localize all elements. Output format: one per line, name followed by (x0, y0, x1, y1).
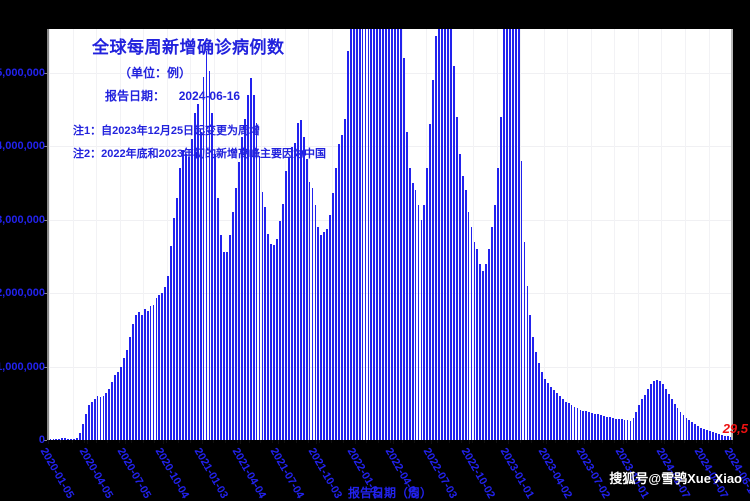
bar (462, 176, 464, 440)
bar (376, 29, 378, 440)
bar (503, 29, 505, 440)
bar (509, 29, 511, 440)
bar (653, 381, 655, 440)
bar (241, 137, 243, 440)
x-axis-minor-tick (649, 440, 650, 443)
bar (550, 387, 552, 440)
bar (512, 29, 514, 440)
bar (320, 235, 322, 441)
bar (135, 315, 137, 440)
x-axis-tick (469, 440, 470, 444)
bar (571, 405, 573, 440)
bar (450, 29, 452, 440)
x-axis-minor-tick (331, 440, 332, 443)
x-axis-minor-tick (390, 440, 391, 443)
bar (521, 161, 523, 440)
x-axis-minor-tick (213, 440, 214, 443)
bar (612, 418, 614, 440)
bar (712, 432, 714, 440)
bar (153, 305, 155, 440)
bar (306, 159, 308, 440)
bar (368, 29, 370, 440)
bar (385, 29, 387, 440)
bar (686, 418, 688, 440)
bar (353, 29, 355, 440)
bar (621, 419, 623, 440)
bar (114, 375, 116, 440)
x-axis-minor-tick (119, 440, 120, 443)
bar (217, 198, 219, 440)
bar (644, 395, 646, 441)
bar (256, 123, 258, 440)
x-axis-tick (702, 440, 703, 444)
bar (150, 306, 152, 440)
bar (518, 29, 520, 440)
bar (706, 430, 708, 440)
bar (515, 29, 517, 440)
bar (129, 337, 131, 440)
bar (335, 168, 337, 440)
bar (559, 396, 561, 440)
bar (356, 29, 358, 440)
bar (403, 58, 405, 440)
bar (691, 422, 693, 440)
bar (597, 414, 599, 440)
bar (188, 157, 190, 440)
x-axis-minor-tick (343, 440, 344, 443)
bar (423, 205, 425, 440)
bar (91, 402, 93, 440)
bar (426, 168, 428, 440)
bar (400, 29, 402, 440)
bar (223, 252, 225, 440)
bar (603, 416, 605, 440)
bar (88, 405, 90, 440)
x-axis-minor-tick (178, 440, 179, 443)
x-axis-minor-tick (496, 440, 497, 443)
bar (103, 396, 105, 440)
x-axis-minor-tick (520, 440, 521, 443)
bar (618, 419, 620, 440)
x-axis-minor-tick (225, 440, 226, 443)
bar (362, 29, 364, 440)
bar (421, 220, 423, 440)
bar (465, 190, 467, 440)
bar (447, 29, 449, 440)
x-axis-minor-tick (48, 440, 49, 443)
bar (441, 29, 443, 440)
bar (379, 29, 381, 440)
bar (650, 384, 652, 440)
bar (244, 119, 246, 440)
bar (409, 168, 411, 440)
bar (250, 78, 252, 440)
bar (453, 66, 455, 440)
bar (703, 429, 705, 440)
bar (485, 264, 487, 440)
bar (373, 29, 375, 440)
bar (344, 119, 346, 440)
x-axis-minor-tick (602, 440, 603, 443)
bar (312, 188, 314, 440)
watermark: 搜狐号@雪鸮Xue Xiao (609, 468, 742, 487)
bar (541, 372, 543, 440)
x-axis-minor-tick (249, 440, 250, 443)
x-axis-tick (393, 440, 394, 444)
x-axis-minor-tick (131, 440, 132, 443)
bar (700, 428, 702, 440)
x-axis-minor-tick (626, 440, 627, 443)
bar-series (49, 29, 731, 440)
bar (588, 412, 590, 440)
bar (591, 413, 593, 440)
bar (211, 113, 213, 440)
x-axis-minor-tick (578, 440, 579, 443)
x-axis-minor-tick (637, 440, 638, 443)
bar (176, 198, 178, 440)
bar (524, 242, 526, 440)
x-axis-minor-tick (308, 440, 309, 443)
bar (262, 192, 264, 440)
bar (391, 29, 393, 440)
bar (326, 229, 328, 440)
bar (209, 71, 211, 440)
x-axis-minor-tick (673, 440, 674, 443)
bar (332, 193, 334, 440)
x-axis-minor-tick (60, 440, 61, 443)
bar (635, 412, 637, 440)
bar (247, 95, 249, 440)
bar (350, 29, 352, 440)
bar (647, 389, 649, 440)
x-axis-tick (87, 440, 88, 444)
bar (656, 380, 658, 440)
bar (144, 309, 146, 440)
x-axis-tick (623, 440, 624, 444)
bar (674, 404, 676, 440)
bar (471, 227, 473, 440)
x-axis-minor-tick (366, 440, 367, 443)
bar (574, 407, 576, 440)
bar (627, 420, 629, 440)
bar (624, 420, 626, 440)
bar (288, 157, 290, 440)
x-axis-minor-tick (590, 440, 591, 443)
x-axis-tick (163, 440, 164, 444)
bar (194, 113, 196, 440)
bar (341, 135, 343, 440)
x-axis-minor-tick (543, 440, 544, 443)
bar (630, 421, 632, 440)
x-axis-tick (546, 440, 547, 444)
bar (259, 156, 261, 440)
bar (156, 298, 158, 440)
bar (347, 51, 349, 440)
x-axis-minor-tick (508, 440, 509, 443)
x-axis-minor-tick (614, 440, 615, 443)
gridline-vertical (732, 29, 733, 440)
bar (659, 381, 661, 440)
bar (297, 123, 299, 440)
x-axis-tick (240, 440, 241, 444)
bar (429, 124, 431, 440)
bar (267, 234, 269, 440)
x-axis-minor-tick (696, 440, 697, 443)
x-axis-minor-tick (84, 440, 85, 443)
bar (359, 29, 361, 440)
bar (214, 154, 216, 440)
bar (438, 29, 440, 440)
x-axis-minor-tick (378, 440, 379, 443)
bar (577, 408, 579, 440)
y-axis-tick-label: 4,000,000 (0, 140, 45, 152)
x-axis-minor-tick (461, 440, 462, 443)
bar (606, 417, 608, 440)
bar (494, 205, 496, 440)
bar (476, 249, 478, 440)
bar (197, 104, 199, 440)
x-axis-minor-tick (708, 440, 709, 443)
y-axis-tick-label: 2,000,000 (0, 287, 45, 299)
x-axis-tick (584, 440, 585, 444)
bar (506, 29, 508, 440)
bar (126, 350, 128, 440)
bar (203, 77, 205, 440)
bar (170, 246, 172, 440)
bar (79, 433, 81, 440)
bar (94, 399, 96, 440)
bar (562, 399, 564, 440)
bar (179, 168, 181, 440)
bar (329, 215, 331, 440)
bar (294, 143, 296, 440)
bar (479, 264, 481, 440)
x-axis-minor-tick (414, 440, 415, 443)
x-axis-minor-tick (284, 440, 285, 443)
bar (388, 29, 390, 440)
x-axis-minor-tick (437, 440, 438, 443)
x-axis-minor-tick (484, 440, 485, 443)
bar (529, 315, 531, 440)
bar (491, 227, 493, 440)
bar (141, 315, 143, 440)
bar (264, 207, 266, 440)
x-axis-minor-tick (425, 440, 426, 443)
bar (547, 383, 549, 440)
x-axis-minor-tick (531, 440, 532, 443)
bar (108, 389, 110, 440)
bar (206, 51, 208, 440)
bar (500, 117, 502, 440)
bar (565, 402, 567, 440)
bar (100, 397, 102, 440)
bar (638, 405, 640, 440)
x-axis-minor-tick (166, 440, 167, 443)
bar (282, 204, 284, 440)
bar (432, 80, 434, 440)
bar (609, 417, 611, 440)
bar (315, 205, 317, 440)
x-axis-minor-tick (107, 440, 108, 443)
bar (459, 154, 461, 440)
bar (253, 95, 255, 440)
bar (568, 403, 570, 440)
x-axis-tick (316, 440, 317, 444)
y-axis-tick-label: 0 (39, 434, 45, 446)
bar (683, 415, 685, 440)
bar (279, 221, 281, 440)
bar (668, 394, 670, 440)
bar (323, 232, 325, 440)
bar (161, 293, 163, 440)
bar (715, 433, 717, 440)
bar (415, 190, 417, 440)
bar (370, 29, 372, 440)
x-axis-minor-tick (96, 440, 97, 443)
bar (482, 271, 484, 440)
x-axis-minor-tick (296, 440, 297, 443)
bar (680, 412, 682, 440)
bar (641, 399, 643, 440)
bar (662, 384, 664, 440)
bar (105, 393, 107, 440)
bar (709, 431, 711, 440)
x-axis-minor-tick (154, 440, 155, 443)
x-axis-tick (664, 440, 665, 444)
bar (633, 418, 635, 440)
x-axis-tick (278, 440, 279, 444)
bar (688, 420, 690, 440)
bar (556, 393, 558, 440)
bar (671, 399, 673, 440)
bar (111, 382, 113, 440)
plot-area (47, 29, 733, 440)
x-axis-minor-tick (732, 440, 733, 443)
chart-screenshot: 01,000,0002,000,0003,000,0004,000,0005,0… (0, 0, 750, 500)
x-axis-minor-tick (319, 440, 320, 443)
bar (553, 390, 555, 440)
bar (665, 389, 667, 440)
x-axis-minor-tick (143, 440, 144, 443)
bar (182, 150, 184, 440)
y-axis-tick-label: 1,000,000 (0, 361, 45, 373)
bar (444, 29, 446, 440)
bar (123, 358, 125, 440)
bar (527, 286, 529, 440)
bar (456, 117, 458, 440)
bar (532, 337, 534, 440)
bar (615, 419, 617, 440)
bar (300, 120, 302, 440)
bar (147, 311, 149, 440)
bar (276, 239, 278, 440)
x-axis-minor-tick (449, 440, 450, 443)
bar (238, 162, 240, 440)
bar (273, 245, 275, 440)
bar (229, 235, 231, 441)
bar (582, 411, 584, 440)
bar (85, 414, 87, 440)
bar (164, 287, 166, 440)
bar (406, 132, 408, 440)
y-axis: 01,000,0002,000,0003,000,0004,000,0005,0… (0, 29, 47, 440)
bar (365, 29, 367, 440)
x-axis-minor-tick (190, 440, 191, 443)
x-axis-tick (125, 440, 126, 444)
x-axis-minor-tick (202, 440, 203, 443)
x-axis-tick (431, 440, 432, 444)
bar (82, 424, 84, 440)
bar (220, 235, 222, 441)
x-axis-minor-tick (567, 440, 568, 443)
bar (97, 396, 99, 440)
bar (232, 212, 234, 440)
bar (338, 144, 340, 440)
bar (694, 424, 696, 440)
bar (394, 29, 396, 440)
bar (185, 154, 187, 440)
bar (418, 205, 420, 440)
bar (173, 218, 175, 440)
bar (412, 183, 414, 440)
bar (697, 426, 699, 440)
x-axis-minor-tick (555, 440, 556, 443)
x-axis-minor-tick (72, 440, 73, 443)
x-axis-minor-tick (684, 440, 685, 443)
bar (594, 414, 596, 440)
bar (120, 367, 122, 440)
bar (270, 244, 272, 440)
bar (117, 372, 119, 440)
bar (226, 252, 228, 440)
bar (677, 408, 679, 440)
bar (158, 295, 160, 440)
bar (538, 363, 540, 440)
bar (303, 137, 305, 440)
bar (285, 171, 287, 440)
x-axis-minor-tick (661, 440, 662, 443)
bar (535, 352, 537, 440)
bar (200, 132, 202, 440)
bar (317, 227, 319, 440)
bar (309, 182, 311, 440)
last-value-callout: 29,5 (723, 421, 748, 436)
bar (474, 242, 476, 440)
x-axis-minor-tick (237, 440, 238, 443)
bar (191, 139, 193, 440)
bar (497, 168, 499, 440)
x-axis-minor-tick (272, 440, 273, 443)
bar (291, 147, 293, 440)
bar (488, 249, 490, 440)
y-axis-tick-label: 5,000,000 (0, 67, 45, 79)
bar (580, 410, 582, 440)
bar (544, 379, 546, 440)
bar (235, 188, 237, 440)
x-axis-minor-tick (720, 440, 721, 443)
bar (397, 29, 399, 440)
bar (435, 36, 437, 440)
x-axis-minor-tick (472, 440, 473, 443)
bar (167, 276, 169, 440)
bar (585, 411, 587, 440)
bar (138, 312, 140, 440)
x-axis-minor-tick (260, 440, 261, 443)
y-axis-tick-label: 3,000,000 (0, 214, 45, 226)
bar (132, 324, 134, 440)
x-axis-minor-tick (355, 440, 356, 443)
x-axis-minor-tick (402, 440, 403, 443)
